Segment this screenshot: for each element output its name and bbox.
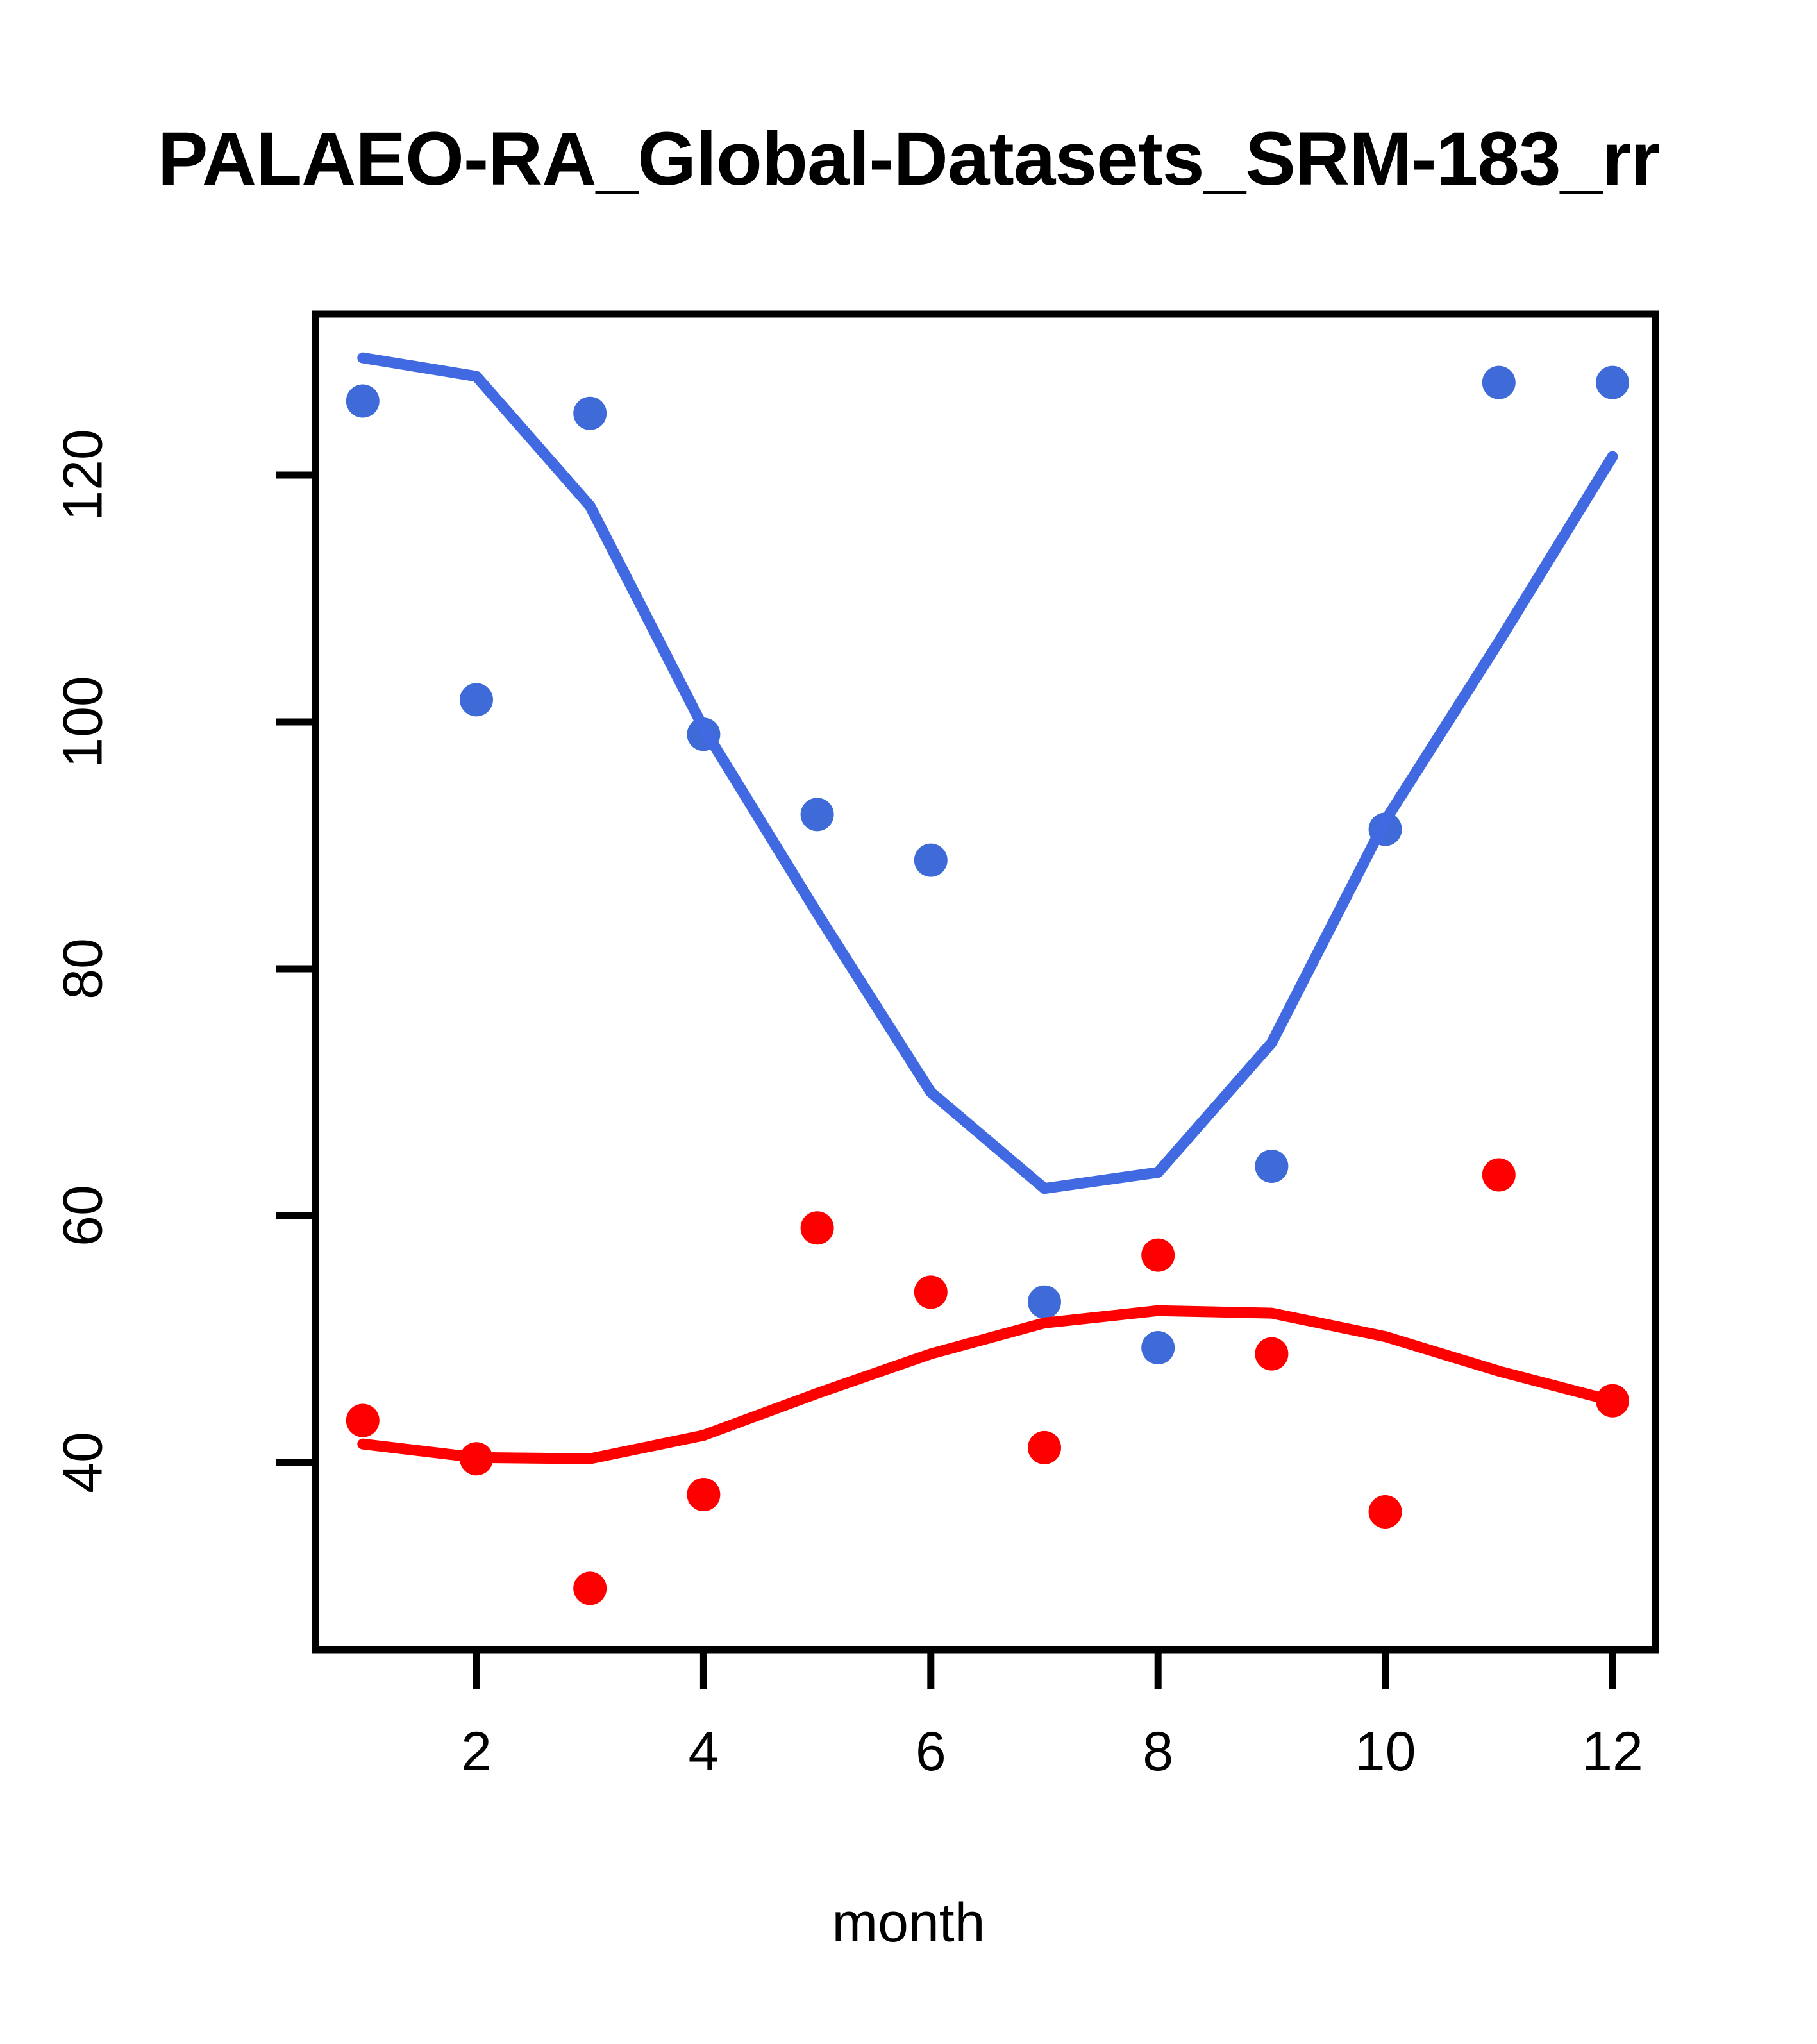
data-point-blue-points: [1596, 366, 1629, 399]
series-line-blue-line: [363, 358, 1612, 1189]
data-point-blue-points: [801, 798, 834, 831]
series-group: [346, 358, 1629, 1605]
data-point-red-points: [687, 1478, 720, 1511]
x-axis-tick-label: 6: [916, 1720, 946, 1784]
series-line-red-line: [363, 1311, 1612, 1459]
x-axis-tick-label: 4: [688, 1720, 719, 1784]
data-point-red-points: [1028, 1431, 1061, 1464]
y-axis-tick-label: 100: [52, 594, 115, 850]
x-axis-tick-label: 8: [1143, 1720, 1173, 1784]
chart-container: PALAEO-RA_Global-Datasets_SRM-183_rr 406…: [0, 0, 1817, 2044]
x-axis-label: month: [0, 1891, 1817, 1955]
data-point-red-points: [914, 1275, 948, 1309]
plot-box-border: [315, 314, 1655, 1650]
x-axis-tick-label: 10: [1355, 1720, 1416, 1784]
data-point-blue-points: [1141, 1331, 1175, 1364]
y-axis-tick-label: 80: [52, 841, 115, 1097]
data-point-red-points: [573, 1571, 607, 1605]
data-point-blue-points: [914, 844, 948, 877]
data-point-red-points: [801, 1211, 834, 1244]
data-point-red-points: [1255, 1337, 1288, 1371]
data-point-blue-points: [1255, 1150, 1288, 1183]
data-point-blue-points: [573, 397, 607, 430]
axes-group: [276, 314, 1655, 1689]
data-point-red-points: [1369, 1495, 1402, 1529]
data-point-blue-points: [460, 683, 493, 716]
data-point-blue-points: [346, 385, 380, 418]
x-axis-tick-label: 2: [461, 1720, 492, 1784]
y-axis-tick-label: 40: [52, 1334, 115, 1591]
data-point-blue-points: [1482, 366, 1516, 399]
y-axis-tick-label: 60: [52, 1087, 115, 1344]
data-point-red-points: [346, 1404, 380, 1437]
data-point-red-points: [1482, 1158, 1516, 1191]
data-point-blue-points: [1028, 1286, 1061, 1319]
y-axis-tick-label: 120: [52, 347, 115, 603]
plot-area-svg: [0, 0, 1817, 2044]
data-point-red-points: [1141, 1239, 1175, 1272]
x-axis-tick-label: 12: [1582, 1720, 1643, 1784]
